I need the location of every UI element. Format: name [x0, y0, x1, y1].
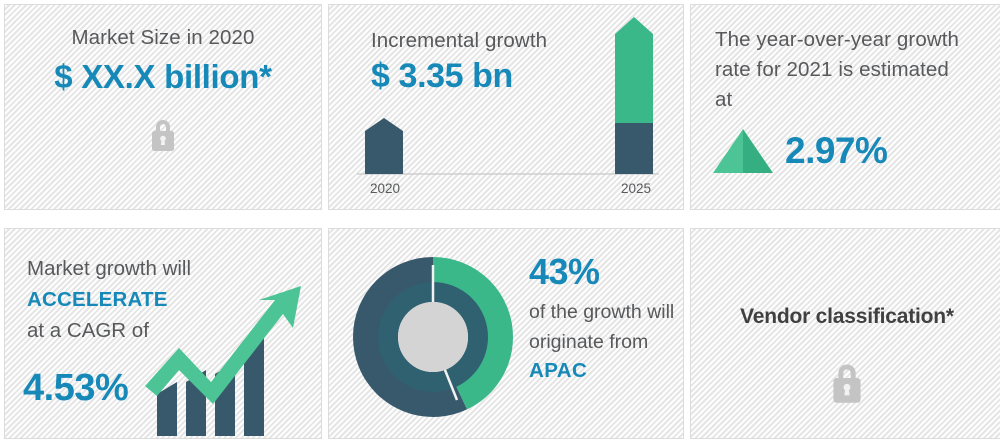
axis-label-start: 2020: [370, 181, 400, 196]
panel-cagr: Market growth will ACCELERATE at a CAGR …: [4, 228, 322, 439]
cagr-line-1: Market growth will: [27, 253, 191, 284]
donut-center-hub: [398, 302, 468, 372]
bar-2025-base: [615, 123, 653, 174]
vendor-lock-wrap: [691, 357, 1000, 409]
regional-share-percent: 43%: [529, 251, 679, 293]
panel-incremental-growth: Incremental growth $ 3.35 bn 2020 2025: [328, 4, 684, 210]
regional-share-desc: of the growth will originate from: [529, 297, 679, 357]
market-size-title: Market Size in 2020: [5, 26, 321, 50]
yoy-rate-row: 2.97%: [711, 127, 887, 175]
cagr-value: 4.53%: [23, 367, 128, 410]
cagr-text-block: Market growth will ACCELERATE at a CAGR …: [27, 253, 191, 346]
panel-yoy-growth: The year-over-year growth rate for 2021 …: [690, 4, 1000, 210]
infographic-grid: Market Size in 2020 $ XX.X billion* Incr…: [0, 0, 1000, 441]
regional-share-text: 43% of the growth will originate from AP…: [529, 251, 679, 383]
up-triangle-icon: [711, 127, 775, 175]
regional-share-desc-line2: originate from: [529, 327, 679, 357]
incremental-growth-title: Incremental growth: [371, 29, 547, 53]
bar-2020: [365, 118, 403, 174]
regional-share-region: APAC: [529, 359, 679, 383]
bar-2025-growth: [615, 17, 653, 123]
panel-market-size: Market Size in 2020 $ XX.X billion*: [4, 4, 322, 210]
yoy-paragraph: The year-over-year growth rate for 2021 …: [715, 25, 971, 115]
donut-chart-icon: [347, 251, 519, 423]
lock-icon: [826, 357, 868, 409]
cagr-line-2-accelerate: ACCELERATE: [27, 284, 191, 315]
panel-vendor-classification: Vendor classification*: [690, 228, 1000, 439]
market-size-value: $ XX.X billion*: [5, 58, 321, 96]
panel-regional-share: 43% of the growth will originate from AP…: [328, 228, 684, 439]
regional-share-desc-line1: of the growth will: [529, 297, 679, 327]
lock-icon: [146, 114, 180, 156]
yoy-rate-value: 2.97%: [785, 130, 887, 172]
incremental-growth-value: $ 3.35 bn: [371, 57, 513, 96]
axis-label-end: 2025: [621, 181, 651, 196]
vendor-classification-title: Vendor classification*: [691, 305, 1000, 329]
market-size-lock-wrap: [5, 114, 321, 156]
cagr-line-3: at a CAGR of: [27, 315, 191, 346]
